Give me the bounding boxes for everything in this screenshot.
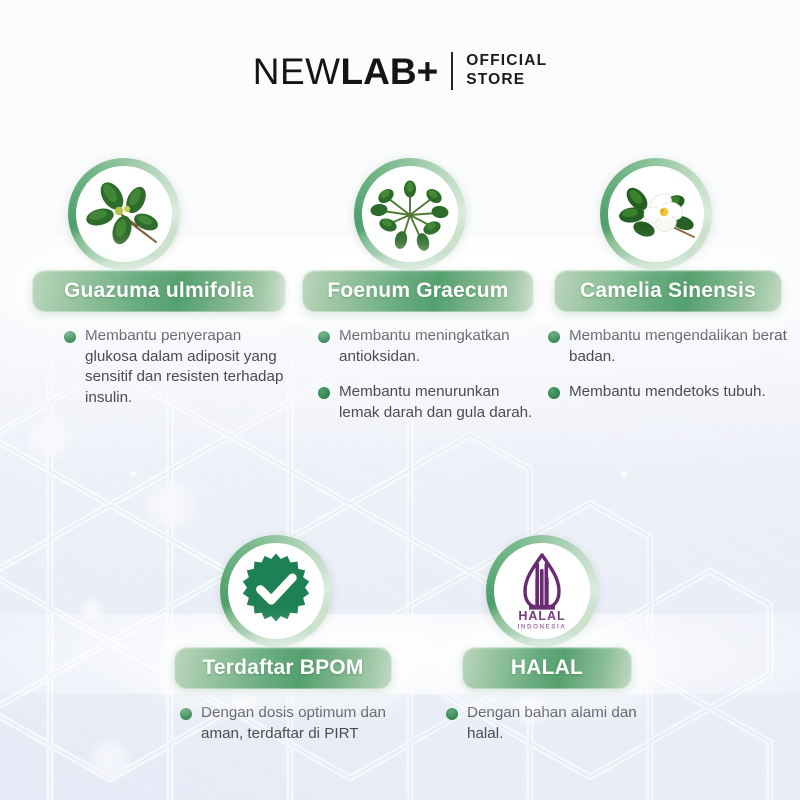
fenugreek-sprig-icon	[369, 177, 451, 251]
ingredient-emblem-guazuma	[68, 158, 180, 270]
sparkle-dot	[620, 470, 628, 478]
official-store-label: OFFICIAL STORE	[466, 52, 547, 90]
bullet-dot-icon	[180, 708, 192, 720]
ingredient-name-label: Camelia Sinensis	[580, 279, 756, 303]
sparkle-dot	[68, 124, 76, 132]
benefit-text: Membantu mendetoks tubuh.	[569, 382, 766, 403]
certification-name-pill-halal[interactable]: HALAL	[462, 647, 632, 689]
ingredient-name-label: Foenum Graecum	[327, 279, 508, 303]
bullet-dot-icon	[318, 387, 330, 399]
halal-logo-sub-text: INDONESIA	[518, 624, 567, 631]
benefit-text: Dengan dosis optimum dan aman, terdaftar…	[201, 703, 408, 744]
certification-name-pill-bpom[interactable]: Terdaftar BPOM	[174, 647, 392, 689]
emblem-inner-disc: HALAL INDONESIA	[494, 543, 590, 639]
benefit-text: Dengan bahan alami dan halal.	[467, 703, 666, 744]
bullet-dot-icon	[64, 331, 76, 343]
halal-logo-main-text: HALAL	[518, 609, 565, 623]
benefit-text: Membantu mengendalikan berat badan.	[569, 326, 794, 367]
verified-rosette-check-icon	[237, 552, 315, 630]
sparkle-dot	[106, 95, 116, 105]
list-item: Membantu mendetoks tubuh.	[548, 382, 794, 403]
benefit-list-guazuma: Membantu penyerapan glukosa dalam adipos…	[24, 326, 292, 409]
list-item: Membantu mengendalikan berat badan.	[548, 326, 794, 367]
ingredient-card-foenum: Foenum Graecum Membantu meningkatkan ant…	[296, 158, 544, 424]
bullet-dot-icon	[446, 708, 458, 720]
ingredient-card-guazuma: Guazuma ulmifolia Membantu penyerapan gl…	[24, 158, 292, 409]
certification-emblem-bpom	[220, 535, 332, 647]
sparkle-dot	[92, 134, 98, 140]
bullet-dot-icon	[548, 387, 560, 399]
benefit-text: Membantu meningkatkan antioksidan.	[339, 326, 544, 367]
emblem-inner-disc	[228, 543, 324, 639]
certification-emblem-halal: HALAL INDONESIA	[486, 535, 598, 647]
certification-card-bpom: Terdaftar BPOM Dengan dosis optimum dan …	[158, 535, 408, 744]
brand-wordmark: NEWLAB+	[253, 53, 438, 90]
emblem-inner-disc	[608, 166, 704, 262]
benefit-list-foenum: Membantu meningkatkan antioksidan. Memba…	[296, 326, 544, 424]
ingredient-name-pill-guazuma[interactable]: Guazuma ulmifolia	[32, 270, 286, 312]
infographic-page: NEWLAB+ OFFICIAL STORE	[0, 0, 800, 800]
ingredient-name-label: Guazuma ulmifolia	[64, 279, 254, 303]
brand-logo: NEWLAB+ OFFICIAL STORE	[0, 52, 800, 90]
sparkle-dot	[130, 470, 137, 477]
ingredient-emblem-camelia	[600, 158, 712, 270]
certification-name-label: HALAL	[511, 656, 583, 680]
certification-card-halal: HALAL INDONESIA HALAL Dengan bahan alami…	[434, 535, 666, 744]
ingredient-card-camelia: Camelia Sinensis Membantu mengendalikan …	[548, 158, 794, 403]
emblem-inner-disc	[76, 166, 172, 262]
benefit-text: Membantu penyerapan glukosa dalam adipos…	[85, 326, 292, 409]
benefit-list-bpom: Dengan dosis optimum dan aman, terdaftar…	[158, 703, 408, 744]
benefit-list-camelia: Membantu mengendalikan berat badan. Memb…	[548, 326, 794, 403]
list-item: Dengan bahan alami dan halal.	[446, 703, 666, 744]
list-item: Membantu menurunkan lemak darah dan gula…	[318, 382, 544, 423]
bullet-dot-icon	[548, 331, 560, 343]
brand-wordmark-new: NEW	[253, 51, 341, 92]
certification-name-label: Terdaftar BPOM	[202, 656, 363, 680]
list-item: Membantu penyerapan glukosa dalam adipos…	[64, 326, 292, 409]
brand-wordmark-lab: LAB+	[341, 51, 439, 92]
list-item: Dengan dosis optimum dan aman, terdaftar…	[180, 703, 408, 744]
emblem-inner-disc	[362, 166, 458, 262]
bullet-dot-icon	[318, 331, 330, 343]
camellia-flower-icon	[614, 181, 698, 247]
benefit-text: Membantu menurunkan lemak darah dan gula…	[339, 382, 544, 423]
ingredient-name-pill-camelia[interactable]: Camelia Sinensis	[554, 270, 782, 312]
official-store-line2: STORE	[466, 71, 547, 90]
ingredient-name-pill-foenum[interactable]: Foenum Graecum	[302, 270, 534, 312]
ingredient-emblem-foenum	[354, 158, 466, 270]
official-store-line1: OFFICIAL	[466, 52, 547, 71]
leaf-sprig-icon	[83, 178, 165, 250]
logo-divider	[451, 52, 453, 90]
list-item: Membantu meningkatkan antioksidan.	[318, 326, 544, 367]
benefit-list-halal: Dengan bahan alami dan halal.	[434, 703, 666, 744]
halal-indonesia-logo-icon: HALAL INDONESIA	[505, 549, 579, 633]
sparkle-dot	[690, 120, 699, 129]
